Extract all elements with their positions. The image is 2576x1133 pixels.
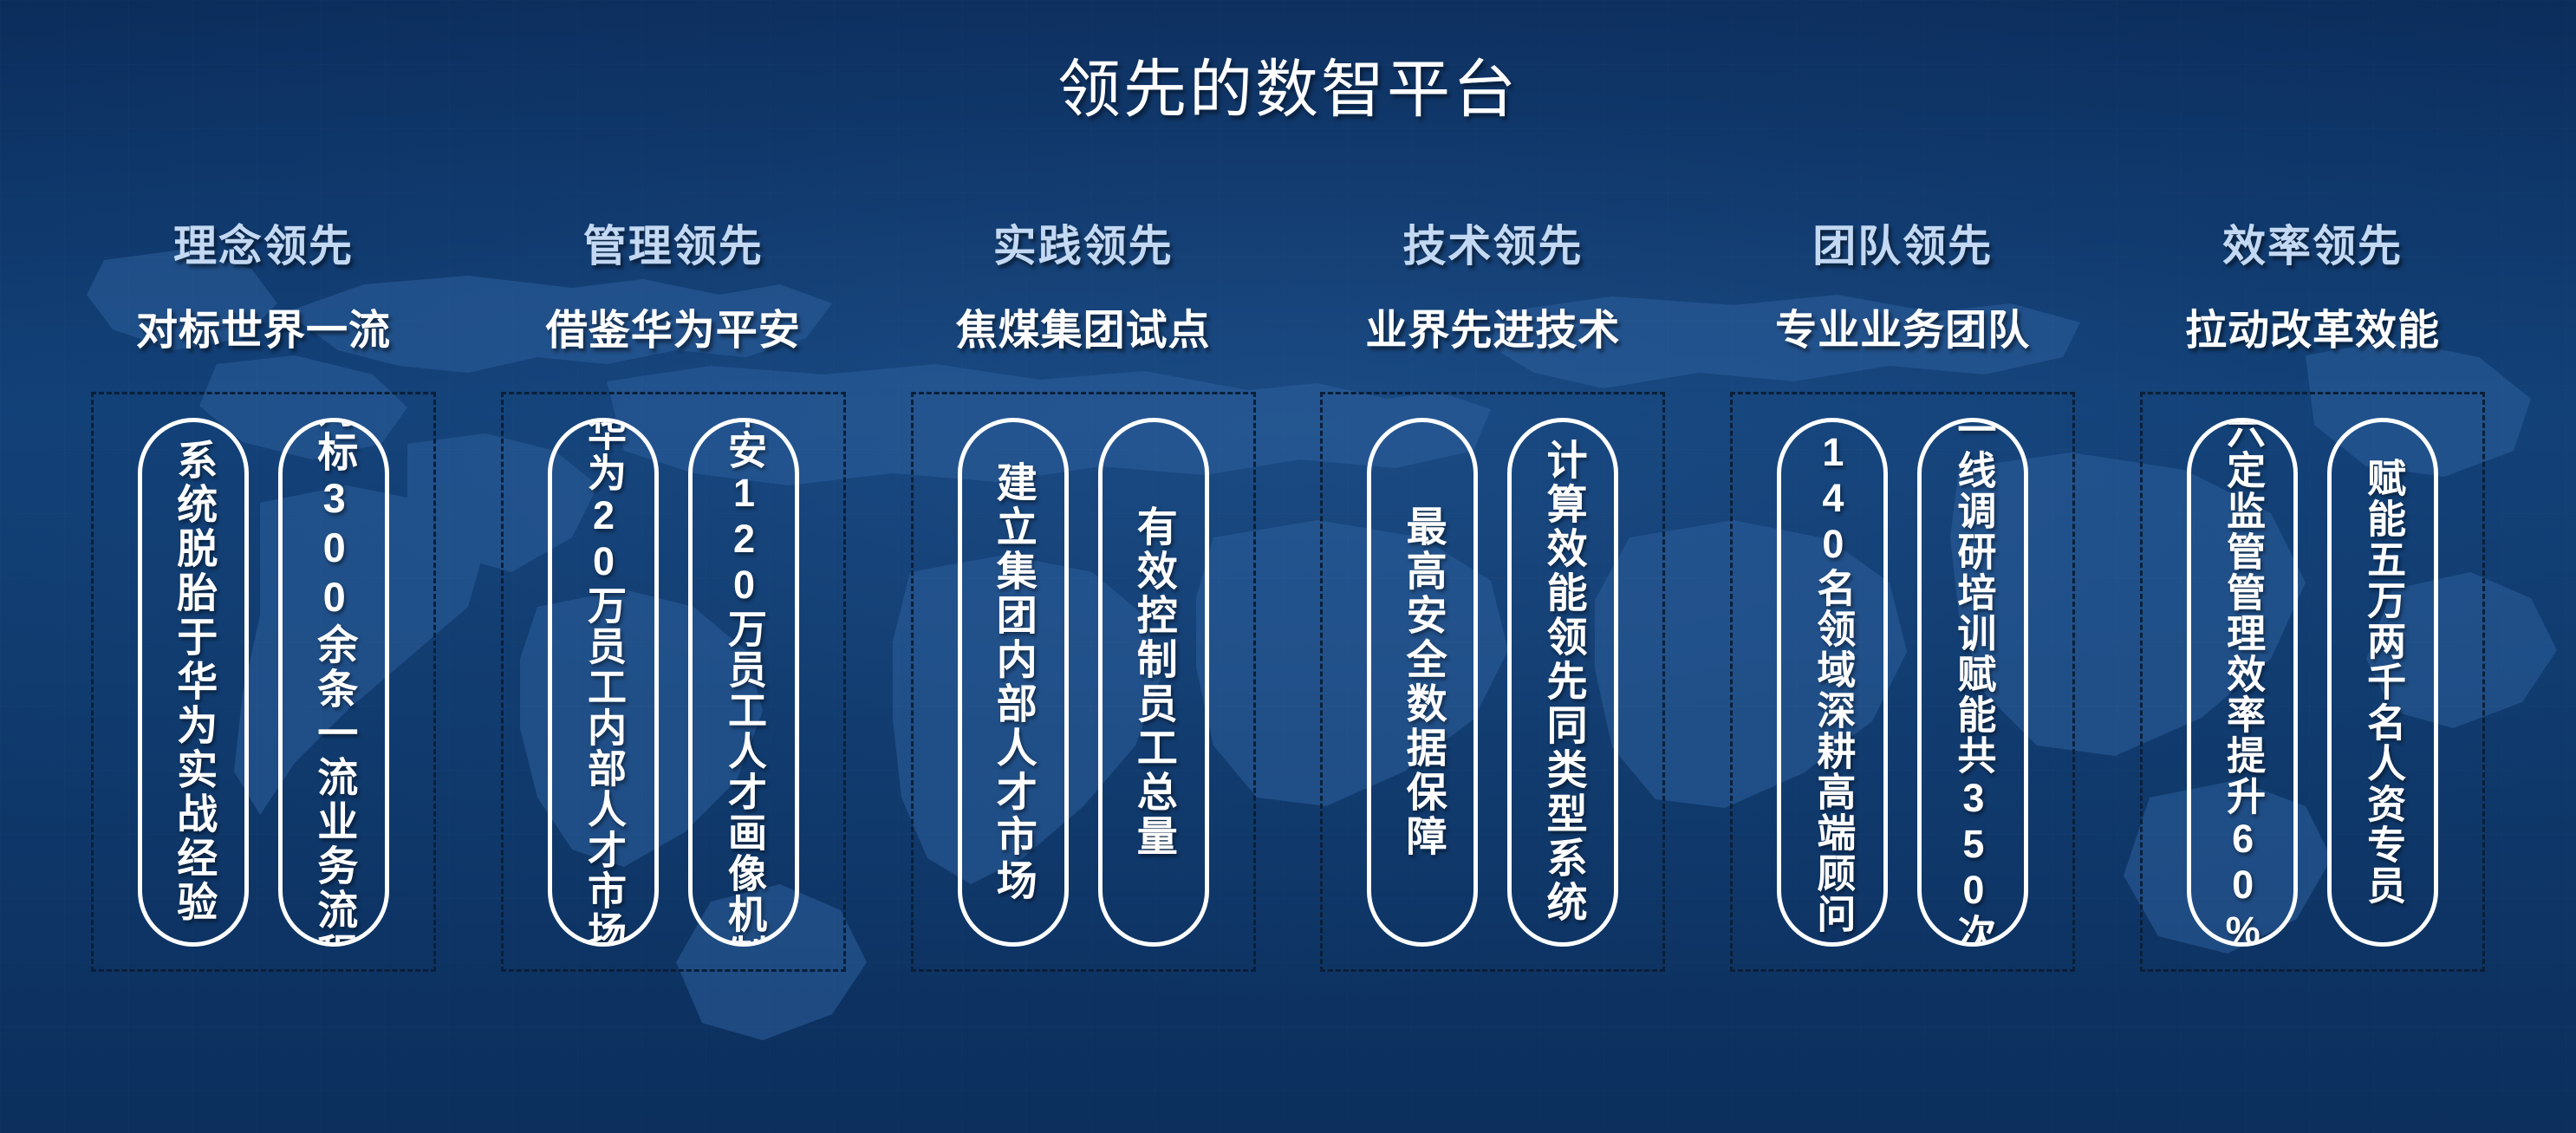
column-5-pill-2[interactable]: 一线调研培训赋能共350次 <box>1917 418 2028 947</box>
column-4-pill-2[interactable]: 计算效能领先同类型系统 <box>1507 418 1618 947</box>
column-2-frame: 华为20万员工内部人才市场 平安120万员工人才画像机制 <box>501 392 846 972</box>
column-4-pill-2-label: 计算效能领先同类型系统 <box>1542 439 1584 925</box>
slide-canvas: 领先的数智平台 理念领先 对标世界一流 系统脱胎于华为实战经验 对标300余条一… <box>0 0 2576 1133</box>
column-5-subheading: 专业业务团队 <box>1775 305 2030 357</box>
columns-container: 理念领先 对标世界一流 系统脱胎于华为实战经验 对标300余条一流业务流程 管理… <box>68 218 2508 972</box>
column-5-pill-1[interactable]: 140名领域深耕高端顾问 <box>1777 418 1888 947</box>
column-5: 团队领先 专业业务团队 140名领域深耕高端顾问 一线调研培训赋能共350次 <box>1707 218 2098 972</box>
column-4-heading: 技术领先 <box>1402 218 1583 274</box>
column-2-pill-1[interactable]: 华为20万员工内部人才市场 <box>548 418 659 947</box>
column-2: 管理领先 借鉴华为平安 华为20万员工内部人才市场 平安120万员工人才画像机制 <box>478 218 869 972</box>
column-1-pill-1[interactable]: 系统脱胎于华为实战经验 <box>138 418 249 947</box>
column-5-pill-2-label: 一线调研培训赋能共350次 <box>1953 418 1993 947</box>
column-1-subheading: 对标世界一流 <box>136 305 391 357</box>
column-6-subheading: 拉动改革效能 <box>2185 305 2440 357</box>
column-2-heading: 管理领先 <box>583 218 764 274</box>
column-6-pill-1-label: 六定监管管理效率提升60% <box>2222 418 2262 947</box>
column-5-pill-1-label: 140名领域深耕高端顾问 <box>1812 430 1852 934</box>
column-3-pill-1-label: 建立集团内部人才市场 <box>992 461 1033 903</box>
column-1-frame: 系统脱胎于华为实战经验 对标300余条一流业务流程 <box>91 392 436 972</box>
column-1-pill-1-label: 系统脱胎于华为实战经验 <box>172 439 214 925</box>
column-4-pill-1[interactable]: 最高安全数据保障 <box>1367 418 1478 947</box>
column-3-pill-2-label: 有效控制员工总量 <box>1132 505 1174 859</box>
column-6-pill-2[interactable]: 赋能五万两千名人资专员 <box>2327 418 2438 947</box>
column-4: 技术领先 业界先进技术 最高安全数据保障 计算效能领先同类型系统 <box>1297 218 1688 972</box>
column-1-pill-2-label: 对标300余条一流业务流程 <box>313 418 355 947</box>
column-3-subheading: 焦煤集团试点 <box>956 305 1211 357</box>
column-3: 实践领先 焦煤集团试点 建立集团内部人才市场 有效控制员工总量 <box>888 218 1279 972</box>
column-2-pill-2[interactable]: 平安120万员工人才画像机制 <box>688 418 799 947</box>
column-4-frame: 最高安全数据保障 计算效能领先同类型系统 <box>1320 392 1665 972</box>
column-5-frame: 140名领域深耕高端顾问 一线调研培训赋能共350次 <box>1730 392 2075 972</box>
column-6-pill-2-label: 赋能五万两千名人资专员 <box>2363 458 2403 906</box>
column-3-heading: 实践领先 <box>993 218 1174 274</box>
column-6-frame: 六定监管管理效率提升60% 赋能五万两千名人资专员 <box>2140 392 2485 972</box>
column-4-subheading: 业界先进技术 <box>1365 305 1620 357</box>
column-5-heading: 团队领先 <box>1812 218 1993 274</box>
column-4-pill-1-label: 最高安全数据保障 <box>1402 505 1443 859</box>
column-6-pill-1[interactable]: 六定监管管理效率提升60% <box>2187 418 2298 947</box>
column-1-pill-2[interactable]: 对标300余条一流业务流程 <box>278 418 389 947</box>
column-2-pill-1-label: 华为20万员工内部人才市场 <box>583 418 623 947</box>
column-3-pill-1[interactable]: 建立集团内部人才市场 <box>958 418 1069 947</box>
column-3-pill-2[interactable]: 有效控制员工总量 <box>1098 418 1209 947</box>
column-3-frame: 建立集团内部人才市场 有效控制员工总量 <box>911 392 1256 972</box>
column-6-heading: 效率领先 <box>2222 218 2403 274</box>
column-1: 理念领先 对标世界一流 系统脱胎于华为实战经验 对标300余条一流业务流程 <box>68 218 459 972</box>
column-1-heading: 理念领先 <box>173 218 354 274</box>
column-2-subheading: 借鉴华为平安 <box>546 305 801 357</box>
page-title: 领先的数智平台 <box>0 38 2576 130</box>
column-2-pill-2-label: 平安120万员工人才画像机制 <box>724 418 764 947</box>
column-6: 效率领先 拉动改革效能 六定监管管理效率提升60% 赋能五万两千名人资专员 <box>2117 218 2508 972</box>
